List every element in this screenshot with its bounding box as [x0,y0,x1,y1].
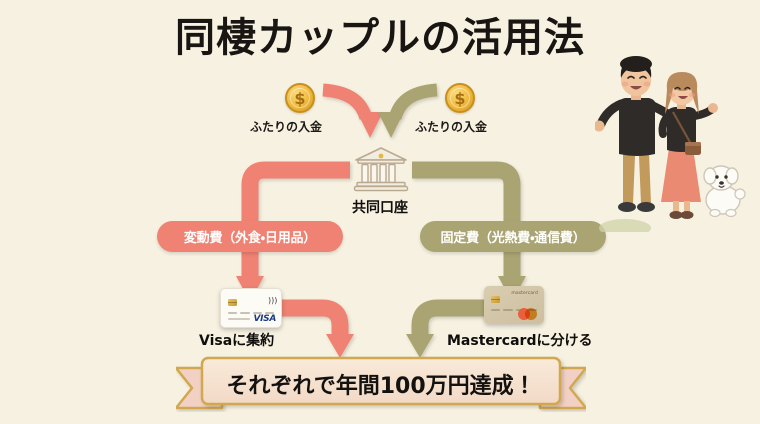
mastercard-label: Mastercardに分ける [447,330,592,350]
card-chip-icon [228,299,237,306]
card-chip-icon [491,296,500,303]
pill-fixed-cost: 固定費（光熱費・通信費） [420,221,606,252]
visa-brand-logo: VISA [253,314,276,324]
coin-currency-symbol-right: $ [454,89,465,108]
mastercard-logo-icon [518,308,538,320]
contactless-icon: ))) [268,297,275,305]
dog-icon [704,166,745,217]
arrow-deposit-left [323,90,383,138]
mastercard-card-icon: mastercard [484,286,544,324]
mastercard-brand-text: mastercard [511,291,538,296]
joint-account-label: 共同口座 [352,197,408,217]
infographic-canvas: 同棲カップルの活用法 [0,0,760,424]
visa-card-label: Visaに集約 [199,330,274,350]
bank-building-icon [353,146,409,192]
coin-icon-right: $ [445,83,475,113]
pill-variable-cost: 変動費（外食・日用品） [157,221,343,252]
couple-with-dog-illustration [595,52,755,232]
deposit-label-right: ふたりの入金 [415,118,487,135]
banner-text: それぞれで年間100万円達成！ [176,356,586,412]
coin-currency-symbol-left: $ [294,89,305,108]
achievement-banner: それぞれで年間100万円達成！ [176,356,586,412]
visa-card-icon: ))) VISA [220,288,282,328]
deposit-label-left: ふたりの入金 [250,118,322,135]
card-holder-placeholder [228,318,250,320]
coin-icon-left: $ [285,83,315,113]
